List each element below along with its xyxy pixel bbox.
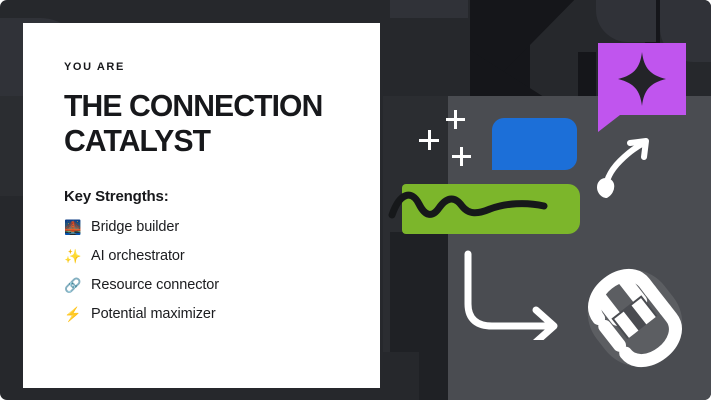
list-item: ✨ AI orchestrator <box>64 248 346 264</box>
eyebrow-label: YOU ARE <box>64 61 346 73</box>
headline-line-2: CATALYST <box>64 123 210 158</box>
blue-rounded-block <box>492 118 577 170</box>
curly-arrow-icon <box>594 133 656 201</box>
link-badge <box>580 262 690 374</box>
screenshot-canvas: YOU ARE THE CONNECTION CATALYST Key Stre… <box>0 0 711 406</box>
list-item: 🔗 Resource connector <box>64 277 346 293</box>
bg-shape-top-bar <box>390 0 468 18</box>
key-strengths-heading: Key Strengths: <box>64 188 346 205</box>
content-card: YOU ARE THE CONNECTION CATALYST Key Stre… <box>23 23 380 388</box>
panel-bottom-notch <box>383 352 419 400</box>
purple-bubble-tail <box>598 115 620 132</box>
list-item: 🌉 Bridge builder <box>64 219 346 235</box>
page-title: THE CONNECTION CATALYST <box>64 89 338 158</box>
four-point-star-icon <box>618 52 666 106</box>
key-strengths-list: 🌉 Bridge builder ✨ AI orchestrator 🔗 Res… <box>64 219 346 322</box>
list-item-label: Resource connector <box>91 277 219 293</box>
elbow-arrow-icon <box>458 248 578 340</box>
headline-line-1: THE CONNECTION <box>64 88 322 123</box>
list-item-label: Bridge builder <box>91 219 179 235</box>
bridge-at-night-emoji-icon: 🌉 <box>64 220 91 234</box>
sparkles-emoji-icon: ✨ <box>64 249 91 263</box>
plus-mark-icon <box>452 147 471 166</box>
list-item-label: Potential maximizer <box>91 306 216 322</box>
list-item-label: AI orchestrator <box>91 248 185 264</box>
green-scribble-icon <box>386 180 586 230</box>
list-item: ⚡ Potential maximizer <box>64 306 346 322</box>
link-emoji-icon: 🔗 <box>64 278 91 292</box>
broken-link-icon <box>580 262 690 374</box>
high-voltage-emoji-icon: ⚡ <box>64 307 91 321</box>
plus-mark-icon <box>419 130 439 150</box>
plus-mark-icon <box>446 110 465 129</box>
